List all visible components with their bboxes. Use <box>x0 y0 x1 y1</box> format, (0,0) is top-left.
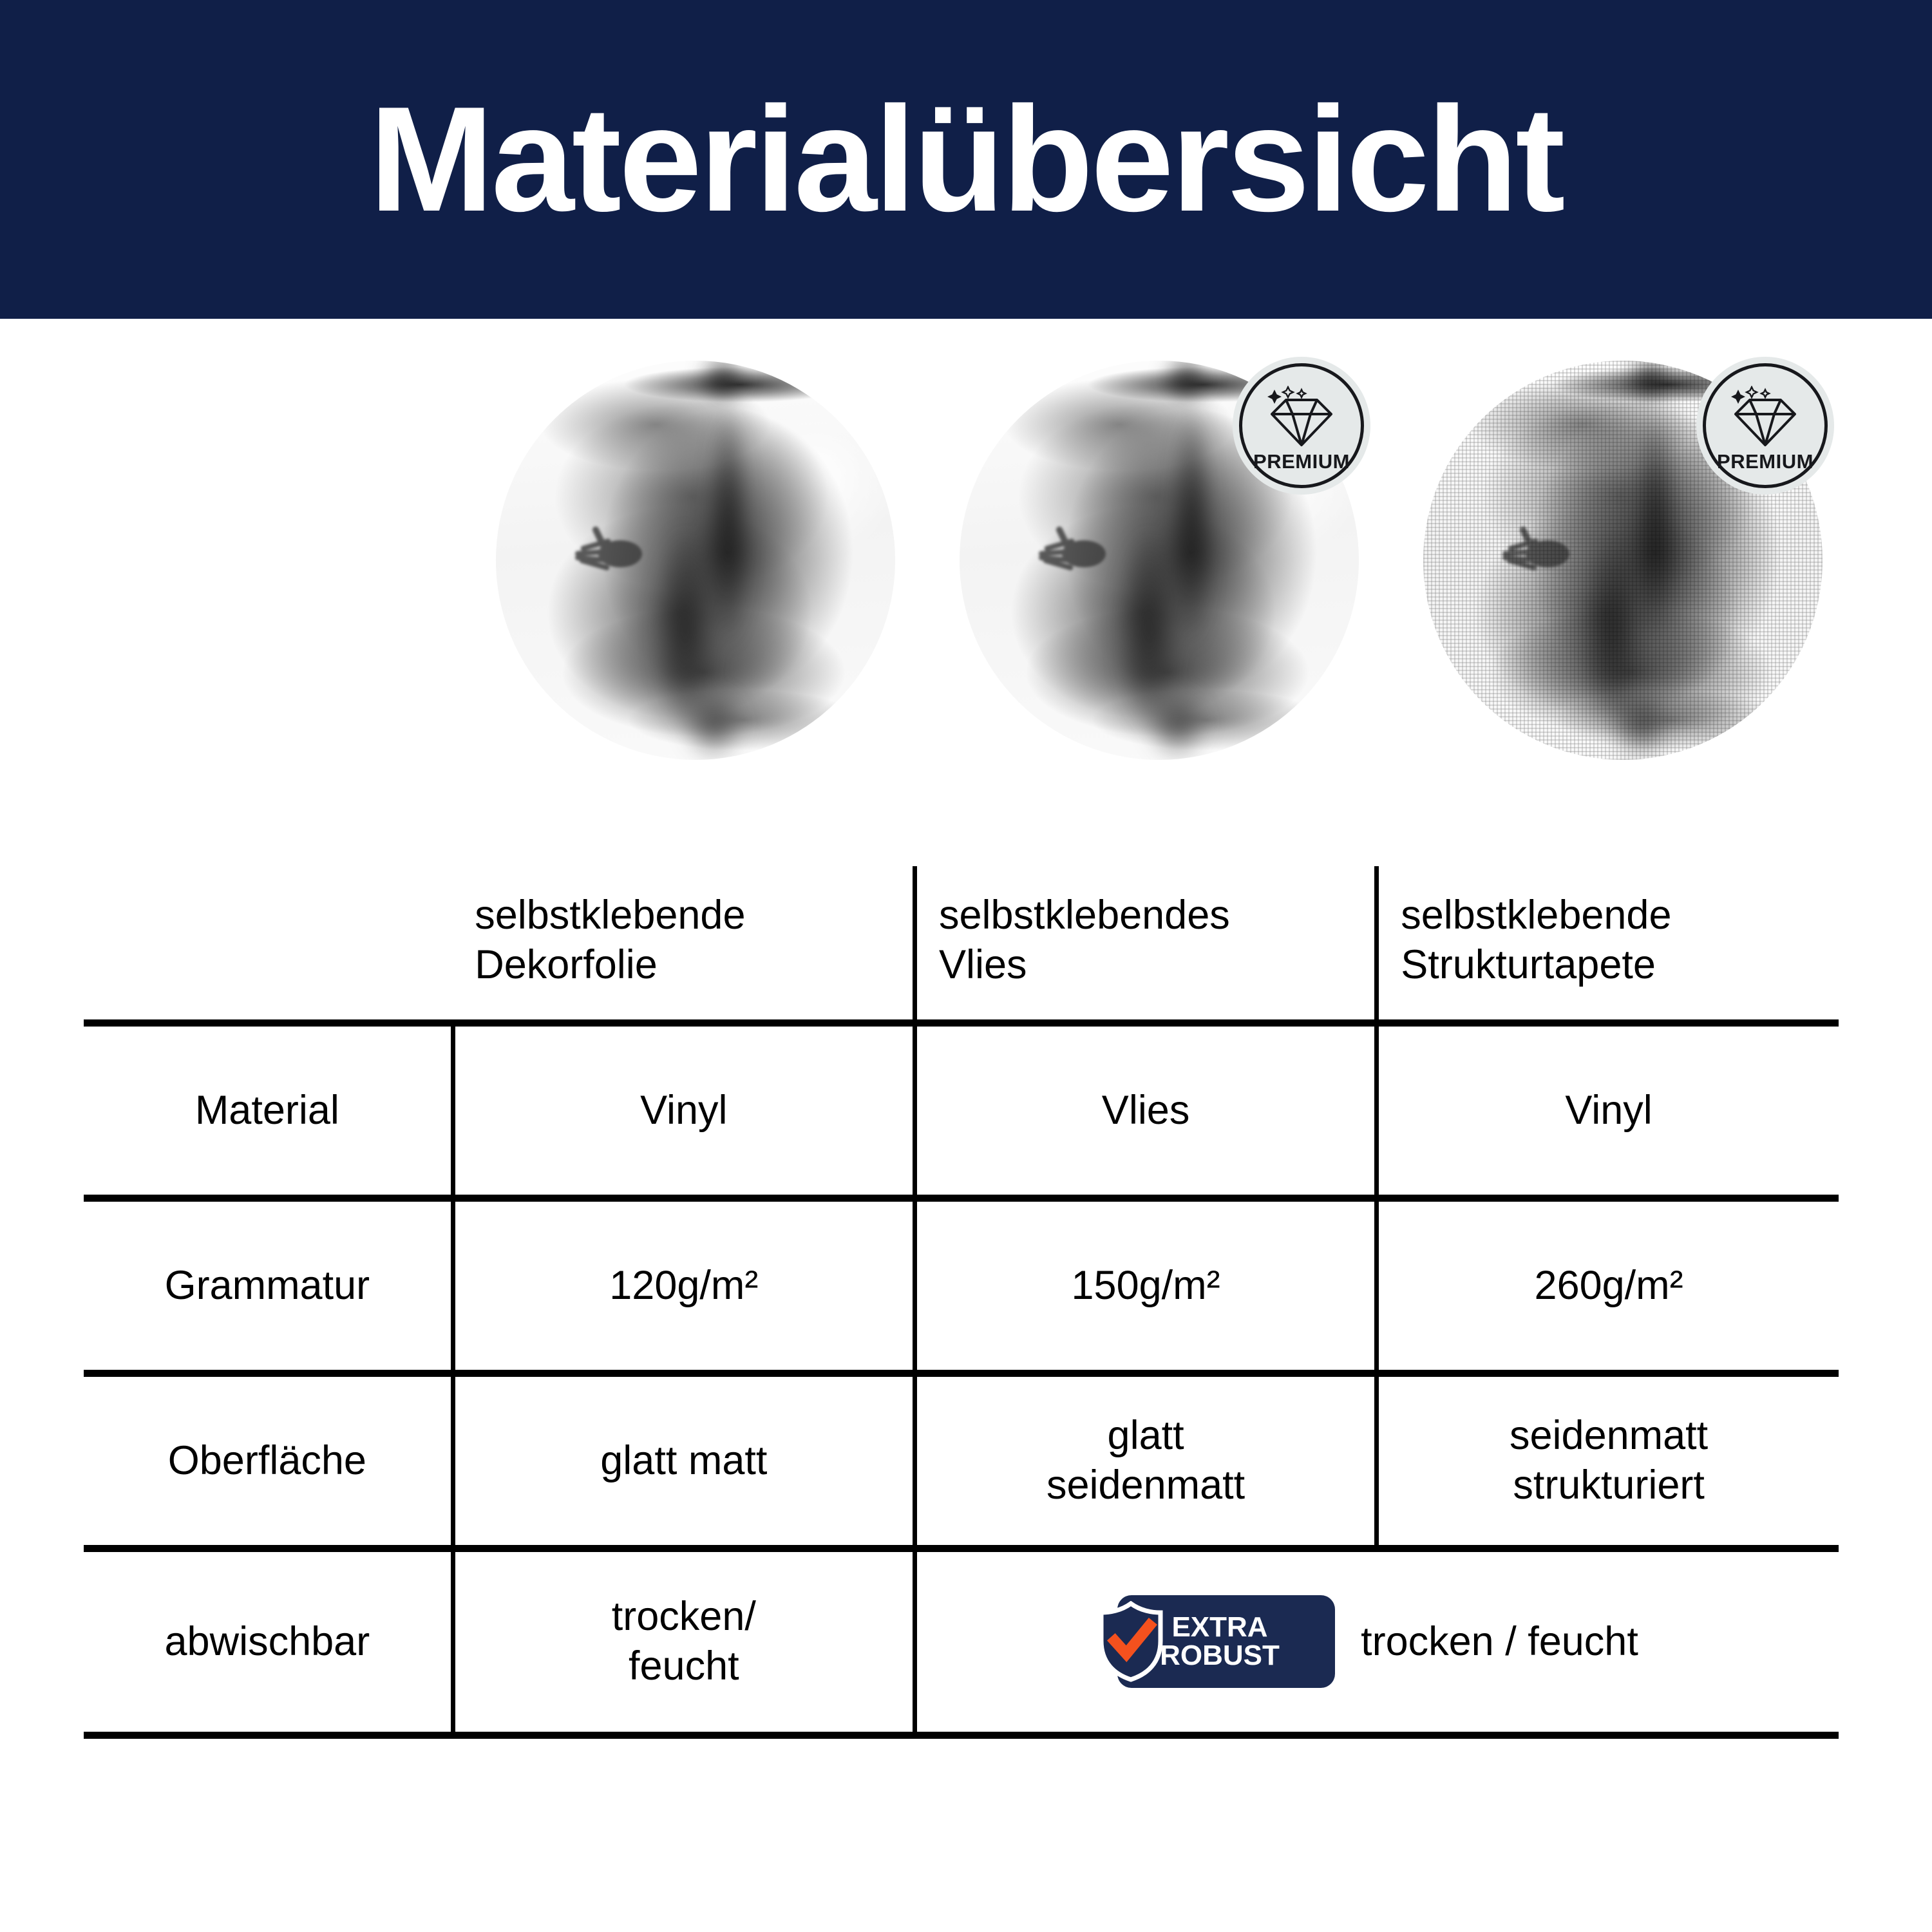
premium-badge-label: PREMIUM <box>1717 450 1814 473</box>
value-line-2: feucht <box>466 1642 902 1691</box>
product-image-circle <box>496 361 895 760</box>
header-line-2: Strukturtapete <box>1401 940 1828 990</box>
robust-badge-line-2: ROBUST <box>1160 1642 1280 1670</box>
hand-silhouette-icon <box>1027 520 1112 582</box>
cell-material-strukturtapete: Vinyl <box>1377 1023 1839 1198</box>
silhouette-graphic <box>496 361 895 760</box>
cell-material-vlies: Vlies <box>914 1023 1376 1198</box>
cell-oberflaeche-vlies: glatt seidenmatt <box>914 1373 1376 1548</box>
table-row: Oberfläche glatt matt glatt seidenmatt s… <box>84 1373 1839 1548</box>
material-comparison-table-wrapper: selbstklebende Dekorfolie selbstklebende… <box>84 866 1839 1739</box>
header-cell-strukturtapete: selbstklebende Strukturtapete <box>1377 866 1839 1023</box>
product-preview-dekorfolie[interactable] <box>496 361 895 760</box>
row-label-oberflaeche: Oberfläche <box>84 1373 453 1548</box>
header-blank-cell <box>84 866 453 1023</box>
cell-abwischbar-spanned-value: trocken / feucht <box>1361 1617 1638 1667</box>
row-label-abwischbar: abwischbar <box>84 1548 453 1735</box>
header-line-1: selbstklebende <box>475 891 902 940</box>
cell-abwischbar-vlies-strukturtapete: EXTRA ROBUST trocken / feucht <box>914 1548 1839 1735</box>
value-line-2: strukturiert <box>1389 1461 1828 1510</box>
premium-badge: PREMIUM <box>1696 357 1834 495</box>
page-header: Materialübersicht <box>0 0 1932 319</box>
cell-grammatur-dekorfolie: 120g/m² <box>453 1198 914 1373</box>
row-label-material: Material <box>84 1023 453 1198</box>
material-overview-page: Materialübersicht <box>0 0 1932 1932</box>
product-preview-vlies[interactable]: PREMIUM <box>960 361 1359 760</box>
value-line-1: seidenmatt <box>1389 1411 1828 1461</box>
row-label-grammatur: Grammatur <box>84 1198 453 1373</box>
cell-oberflaeche-dekorfolie: glatt matt <box>453 1373 914 1548</box>
hand-silhouette-icon <box>563 520 649 582</box>
header-cell-dekorfolie: selbstklebende Dekorfolie <box>453 866 914 1023</box>
header-line-2: Vlies <box>939 940 1364 990</box>
value-line-1: glatt <box>927 1411 1364 1461</box>
cell-material-dekorfolie: Vinyl <box>453 1023 914 1198</box>
diamond-icon <box>1728 386 1803 448</box>
cell-oberflaeche-strukturtapete: seidenmatt strukturiert <box>1377 1373 1839 1548</box>
header-cell-vlies: selbstklebendes Vlies <box>914 866 1376 1023</box>
page-title: Materialübersicht <box>369 85 1562 234</box>
table-header-row: selbstklebende Dekorfolie selbstklebende… <box>84 866 1839 1023</box>
cell-grammatur-strukturtapete: 260g/m² <box>1377 1198 1839 1373</box>
header-line-1: selbstklebendes <box>939 891 1364 940</box>
value-line-2: seidenmatt <box>927 1461 1364 1510</box>
product-preview-strukturtapete[interactable]: PREMIUM <box>1423 361 1823 760</box>
table-row: Grammatur 120g/m² 150g/m² 260g/m² <box>84 1198 1839 1373</box>
value-line-1: trocken/ <box>466 1592 902 1642</box>
premium-badge: PREMIUM <box>1233 357 1370 495</box>
shield-check-icon <box>1097 1601 1165 1682</box>
cell-grammatur-vlies: 150g/m² <box>914 1198 1376 1373</box>
material-comparison-table: selbstklebende Dekorfolie selbstklebende… <box>84 866 1839 1739</box>
product-preview-strip: PREMIUM <box>0 348 1932 773</box>
table-row: abwischbar trocken/ feucht <box>84 1548 1839 1735</box>
header-line-1: selbstklebende <box>1401 891 1828 940</box>
table-row: Material Vinyl Vlies Vinyl <box>84 1023 1839 1198</box>
robust-badge-line-1: EXTRA <box>1160 1613 1280 1642</box>
header-line-2: Dekorfolie <box>475 940 902 990</box>
diamond-icon <box>1264 386 1339 448</box>
extra-robust-badge: EXTRA ROBUST <box>1117 1595 1335 1688</box>
cell-abwischbar-dekorfolie: trocken/ feucht <box>453 1548 914 1735</box>
premium-badge-label: PREMIUM <box>1253 450 1350 473</box>
